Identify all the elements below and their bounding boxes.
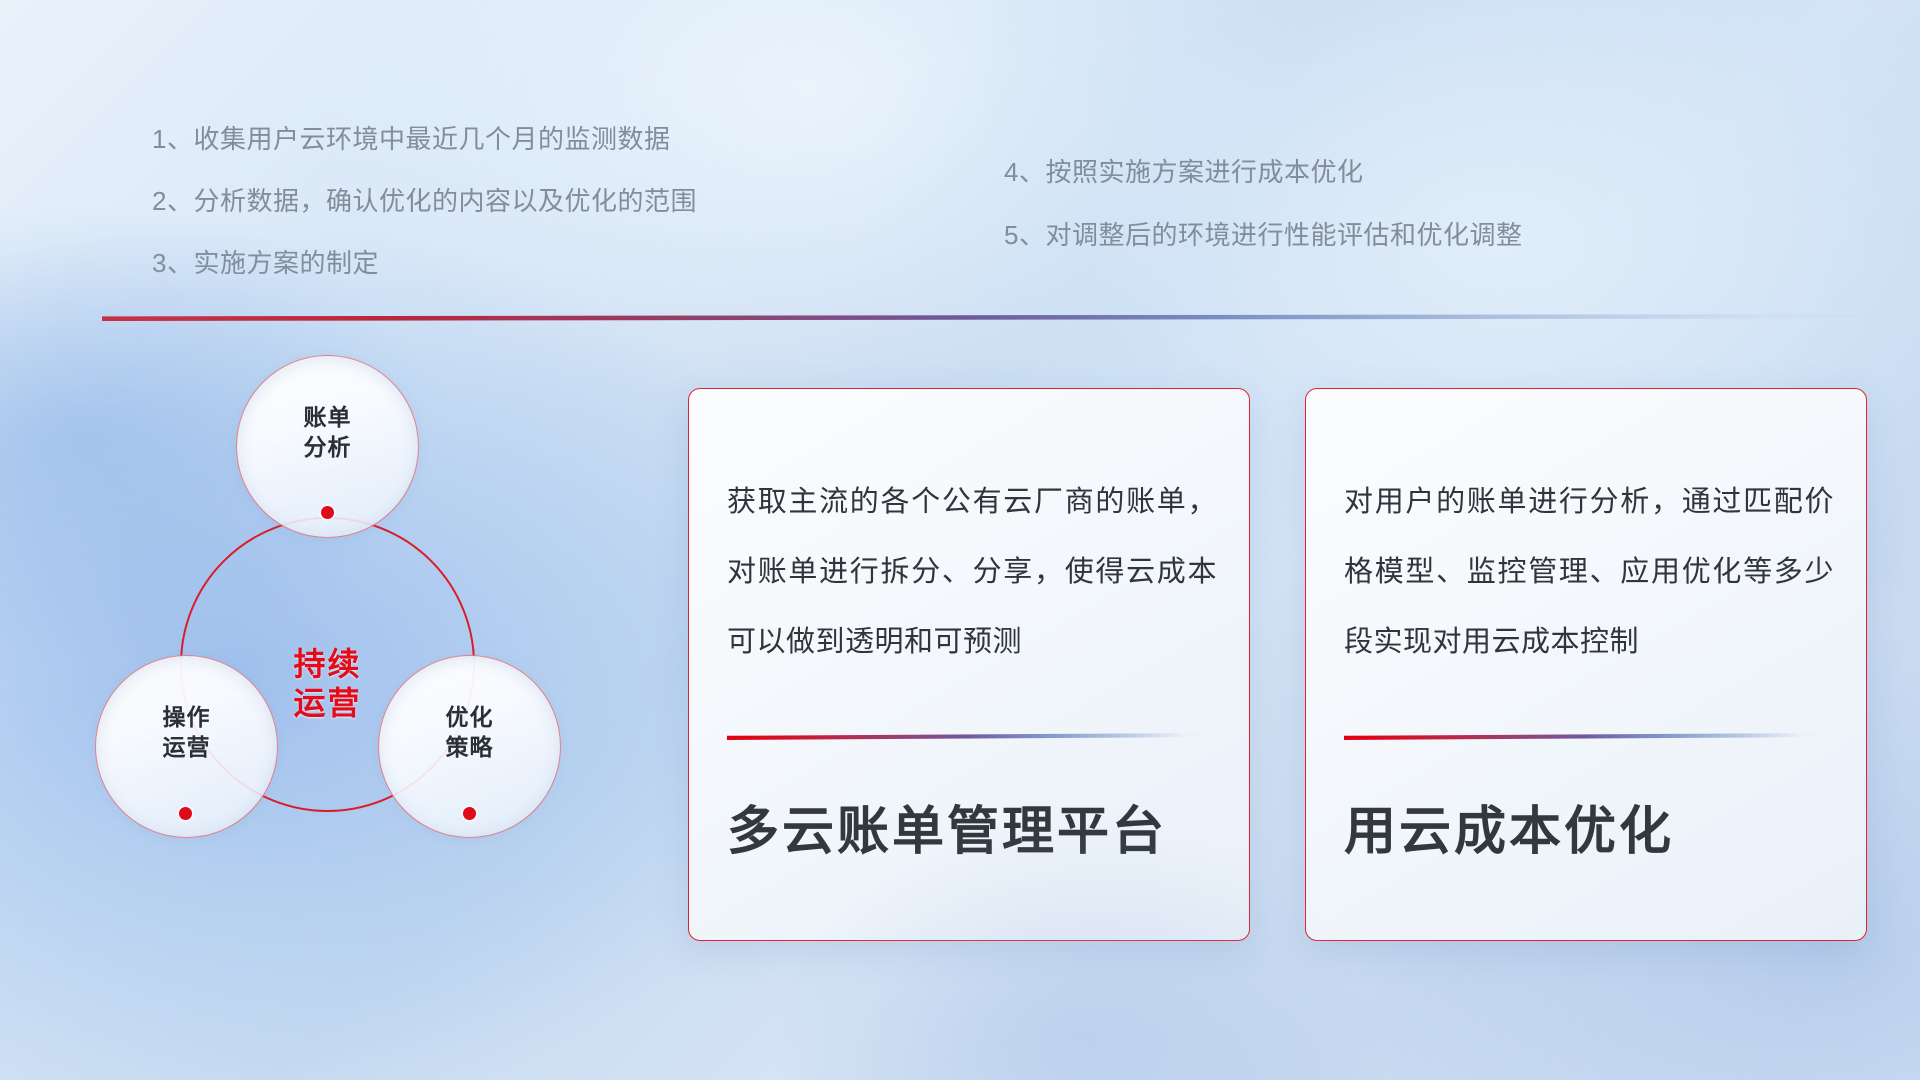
venn-label-line: 账单 — [237, 403, 418, 433]
feature-card-multicloud-billing[interactable]: 获取主流的各个公有云厂商的账单，对账单进行拆分、分享，使得云成本可以做到透明和可… — [688, 388, 1250, 941]
section-divider-rule — [102, 314, 1908, 321]
venn-center-label: 持续 运营 — [180, 645, 475, 723]
venn-node-dot-right — [463, 807, 476, 820]
card-divider-rule — [727, 733, 1207, 740]
step-item: 2、分析数据，确认优化的内容以及优化的范围 — [152, 188, 697, 214]
venn-label-line: 运营 — [96, 733, 277, 763]
card-title: 多云账单管理平台 — [727, 789, 1167, 864]
venn-node-dot-left — [179, 807, 192, 820]
slide-canvas: 1、收集用户云环境中最近几个月的监测数据 2、分析数据，确认优化的内容以及优化的… — [0, 0, 1920, 1080]
venn-label-line: 分析 — [237, 433, 418, 463]
venn-center-label-line: 持续 — [180, 645, 475, 684]
steps-list-left: 1、收集用户云环境中最近几个月的监测数据 2、分析数据，确认优化的内容以及优化的… — [152, 126, 697, 312]
step-item: 3、实施方案的制定 — [152, 250, 697, 276]
step-item: 5、对调整后的环境进行性能评估和优化调整 — [1004, 222, 1522, 248]
steps-list-right: 4、按照实施方案进行成本优化 5、对调整后的环境进行性能评估和优化调整 — [1004, 159, 1522, 285]
card-title: 用云成本优化 — [1344, 789, 1674, 864]
step-item: 4、按照实施方案进行成本优化 — [1004, 159, 1522, 185]
venn-node-dot-top — [321, 506, 334, 519]
feature-card-cloud-cost-optimization[interactable]: 对用户的账单进行分析，通过匹配价格模型、监控管理、应用优化等多少段实现对用云成本… — [1305, 388, 1867, 941]
step-item: 1、收集用户云环境中最近几个月的监测数据 — [152, 126, 697, 152]
venn-label-billing-analysis: 账单 分析 — [237, 403, 418, 463]
card-body-text: 对用户的账单进行分析，通过匹配价格模型、监控管理、应用优化等多少段实现对用云成本… — [1344, 467, 1834, 678]
venn-label-line: 策略 — [379, 733, 560, 763]
venn-diagram: 账单 分析 操作 运营 优化 策略 持续 运营 — [95, 355, 655, 950]
card-divider-rule — [1344, 733, 1824, 740]
venn-center-label-line: 运营 — [180, 684, 475, 723]
card-body-text: 获取主流的各个公有云厂商的账单，对账单进行拆分、分享，使得云成本可以做到透明和可… — [727, 467, 1217, 678]
